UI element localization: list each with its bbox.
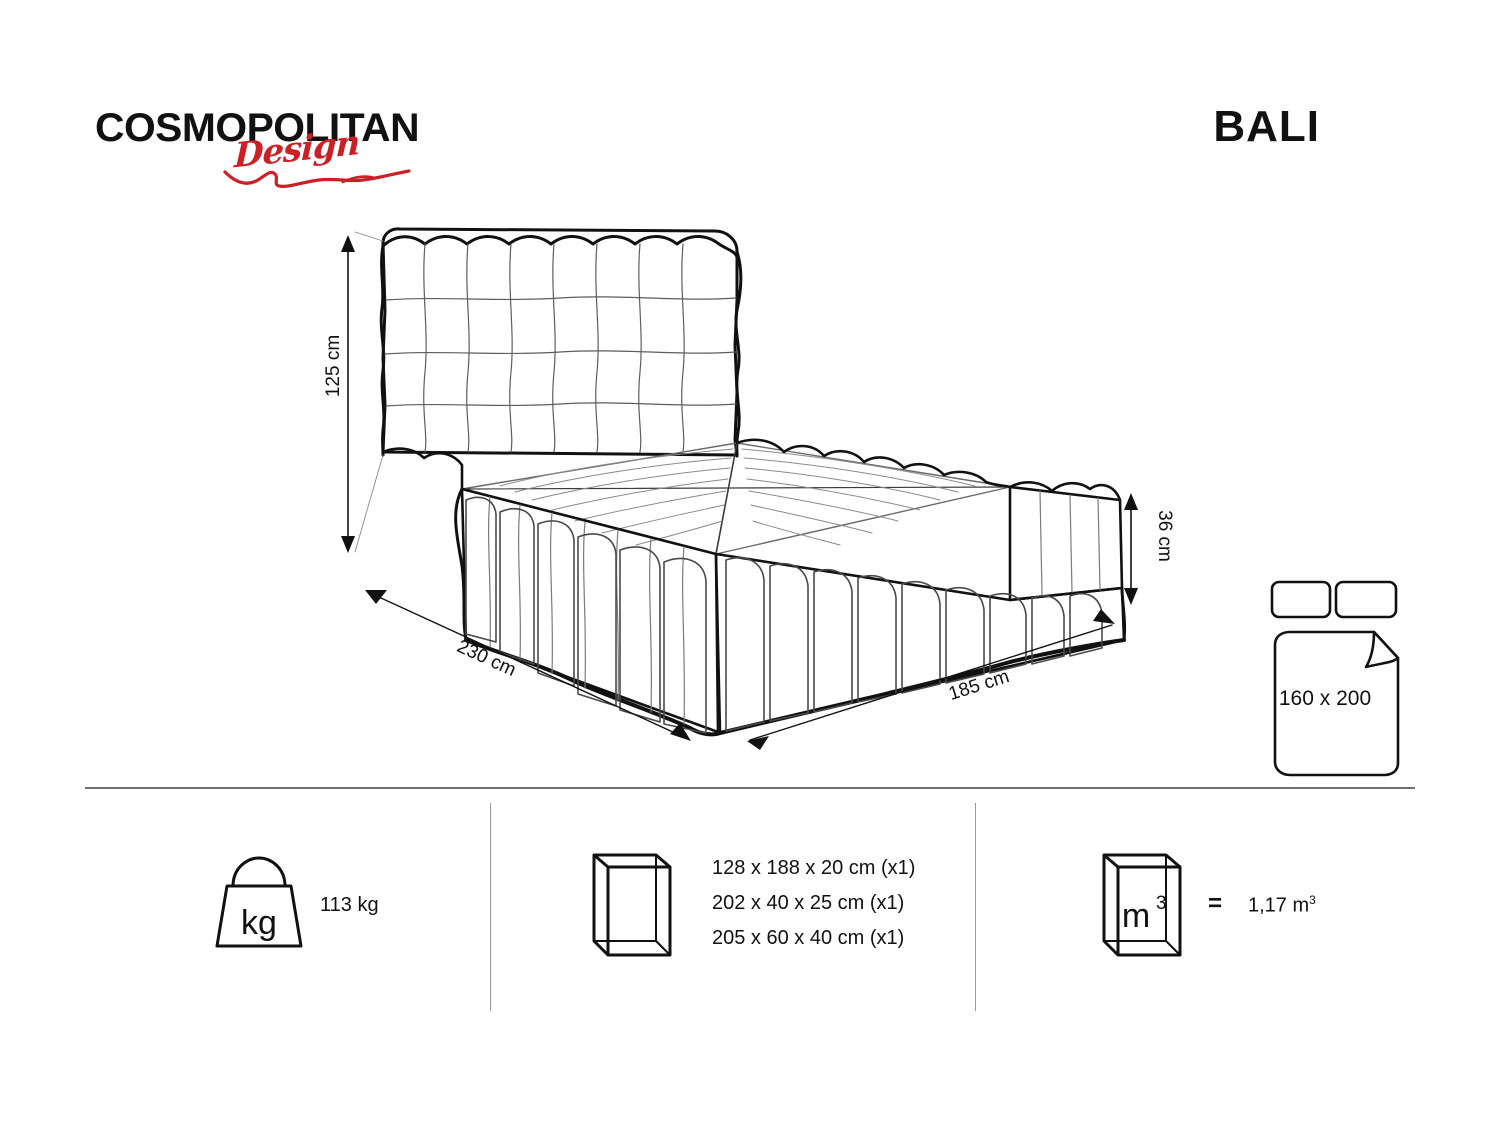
package-box-icon [590, 845, 690, 965]
package-line: 205 x 60 x 40 cm (x1) [712, 921, 915, 956]
section-divider-vertical-2 [975, 803, 976, 1011]
pillow-right-icon [1336, 582, 1396, 617]
volume-box-icon: m 3 [1100, 845, 1200, 965]
volume-panel: m 3 = 1,17 m3 [1100, 845, 1400, 970]
volume-value-exponent: 3 [1309, 893, 1316, 907]
volume-value: 1,17 m3 [1248, 893, 1316, 918]
packages-panel: 128 x 188 x 20 cm (x1) 202 x 40 x 25 cm … [590, 845, 950, 970]
package-line: 128 x 188 x 20 cm (x1) [712, 851, 915, 886]
mattress-size-label: 160 x 200 [1262, 687, 1388, 711]
equals-sign: = [1208, 890, 1222, 918]
package-dimensions-list: 128 x 188 x 20 cm (x1) 202 x 40 x 25 cm … [712, 851, 915, 956]
section-divider-vertical-1 [490, 803, 491, 1011]
weight-icon-label: kg [241, 904, 277, 942]
dimension-label-height: 125 cm [323, 335, 345, 397]
weight-icon: kg [205, 848, 305, 958]
section-divider-horizontal [85, 787, 1415, 789]
volume-value-text: 1,17 m [1248, 895, 1309, 917]
mattress-size-block: 160 x 200 [1262, 575, 1412, 780]
pillow-left-icon [1272, 582, 1330, 617]
volume-icon-label: m [1122, 897, 1150, 935]
spec-sheet: COSMOPOLITAN Design BALI [0, 0, 1500, 1125]
package-line: 202 x 40 x 25 cm (x1) [712, 886, 915, 921]
weight-value: 113 kg [320, 894, 379, 917]
weight-panel: kg 113 kg [205, 848, 435, 968]
bedding-icon [1262, 575, 1412, 780]
volume-icon-exponent: 3 [1156, 893, 1167, 914]
weight-handle-icon [233, 858, 285, 886]
dimension-label-base-height: 36 cm [1153, 510, 1175, 562]
